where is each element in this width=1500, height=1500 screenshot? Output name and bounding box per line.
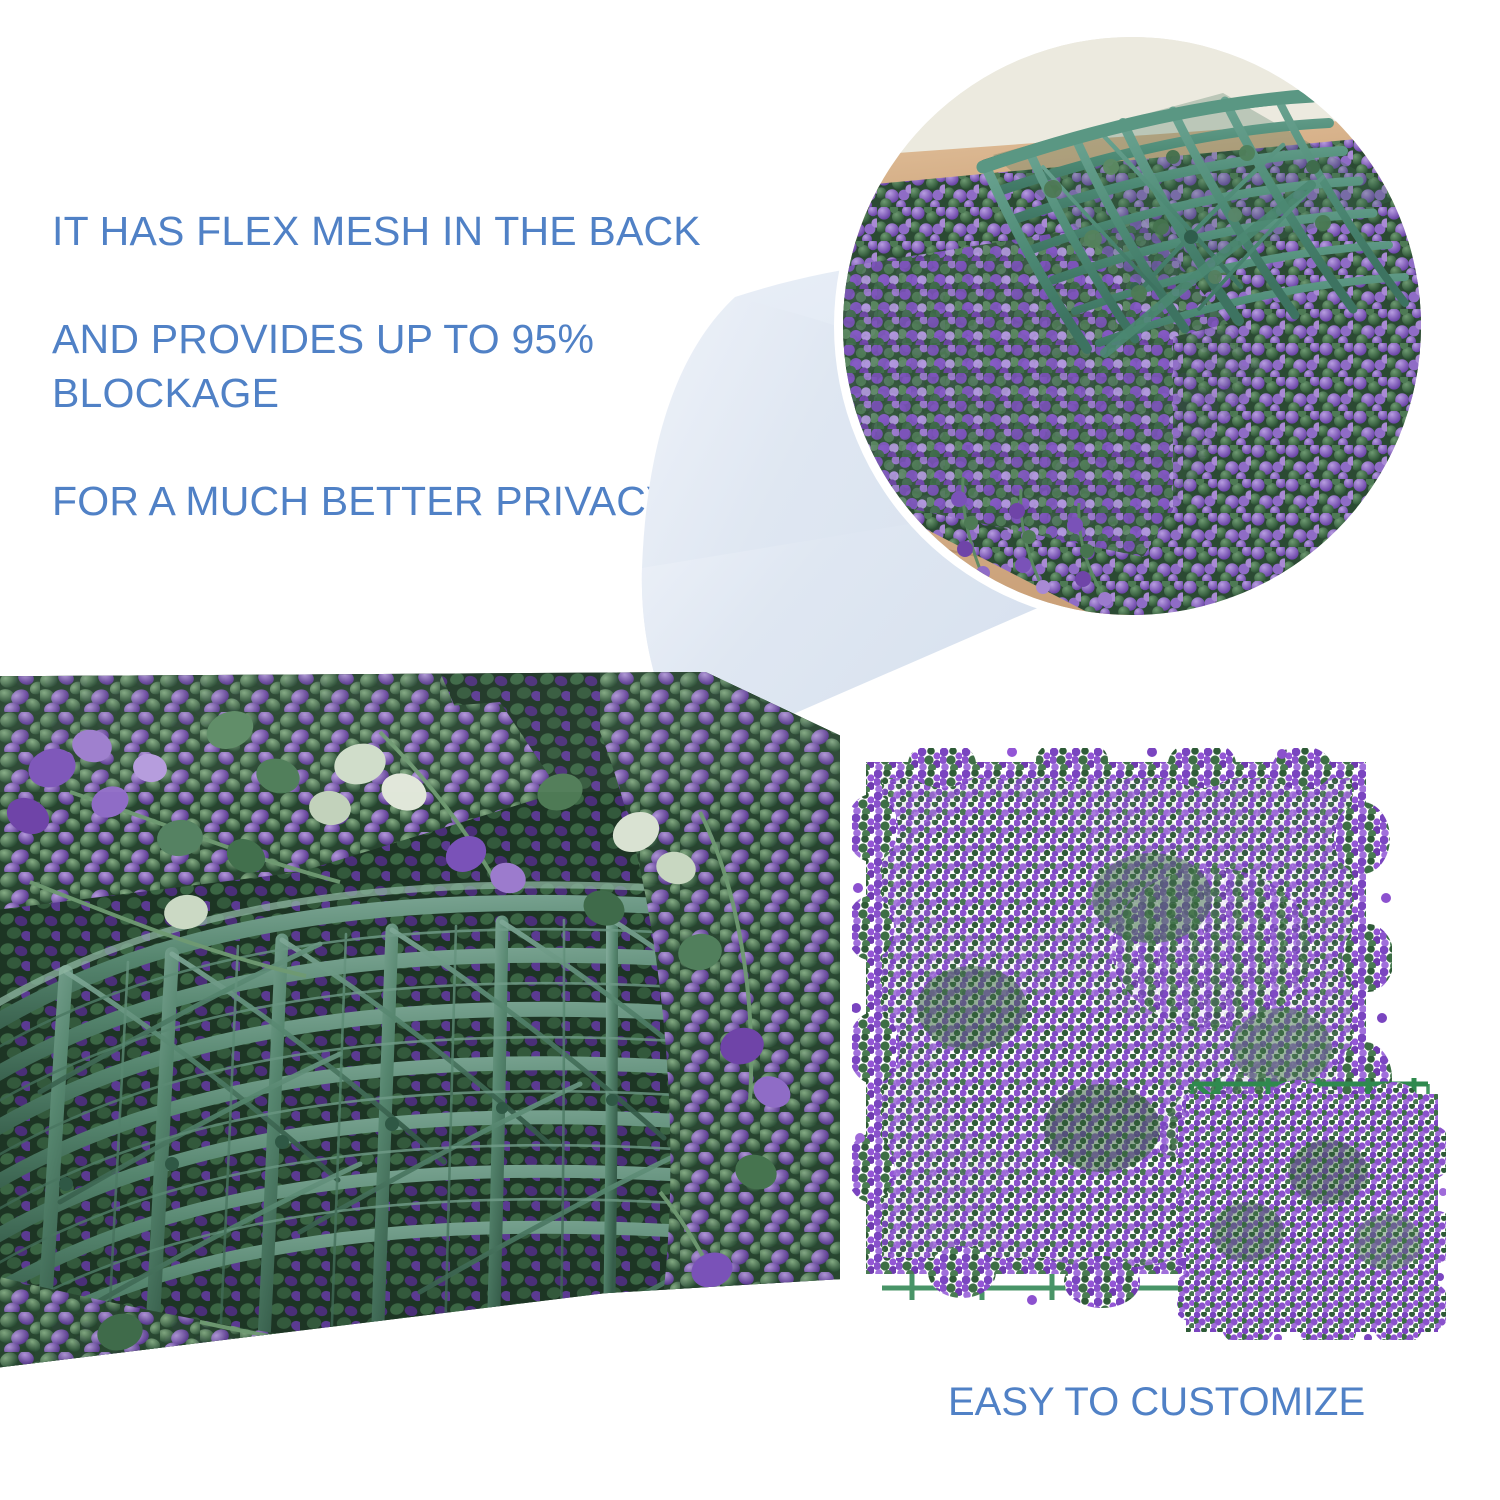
main-photo-canvas (0, 672, 840, 1378)
panel-small-canvas (1178, 1072, 1446, 1340)
mesh-backing-closeup-circular-inset (843, 37, 1421, 615)
flex-mesh-curved-closeup (0, 672, 840, 1378)
circle-inset-photo (843, 37, 1421, 615)
headline-text: IT HAS FLEX MESH IN THE BACK AND PROVIDE… (52, 150, 812, 582)
headline-line-3: FOR A MUCH BETTER PRIVACY (52, 474, 812, 528)
headline-line-2: AND PROVIDES UP TO 95% BLOCKAGE (52, 312, 812, 420)
trimmed-hedge-panel (1178, 1072, 1446, 1340)
headline-line-1: IT HAS FLEX MESH IN THE BACK (52, 204, 812, 258)
product-infographic: IT HAS FLEX MESH IN THE BACK AND PROVIDE… (0, 0, 1500, 1500)
easy-to-customize-caption: EASY TO CUSTOMIZE (948, 1378, 1468, 1426)
